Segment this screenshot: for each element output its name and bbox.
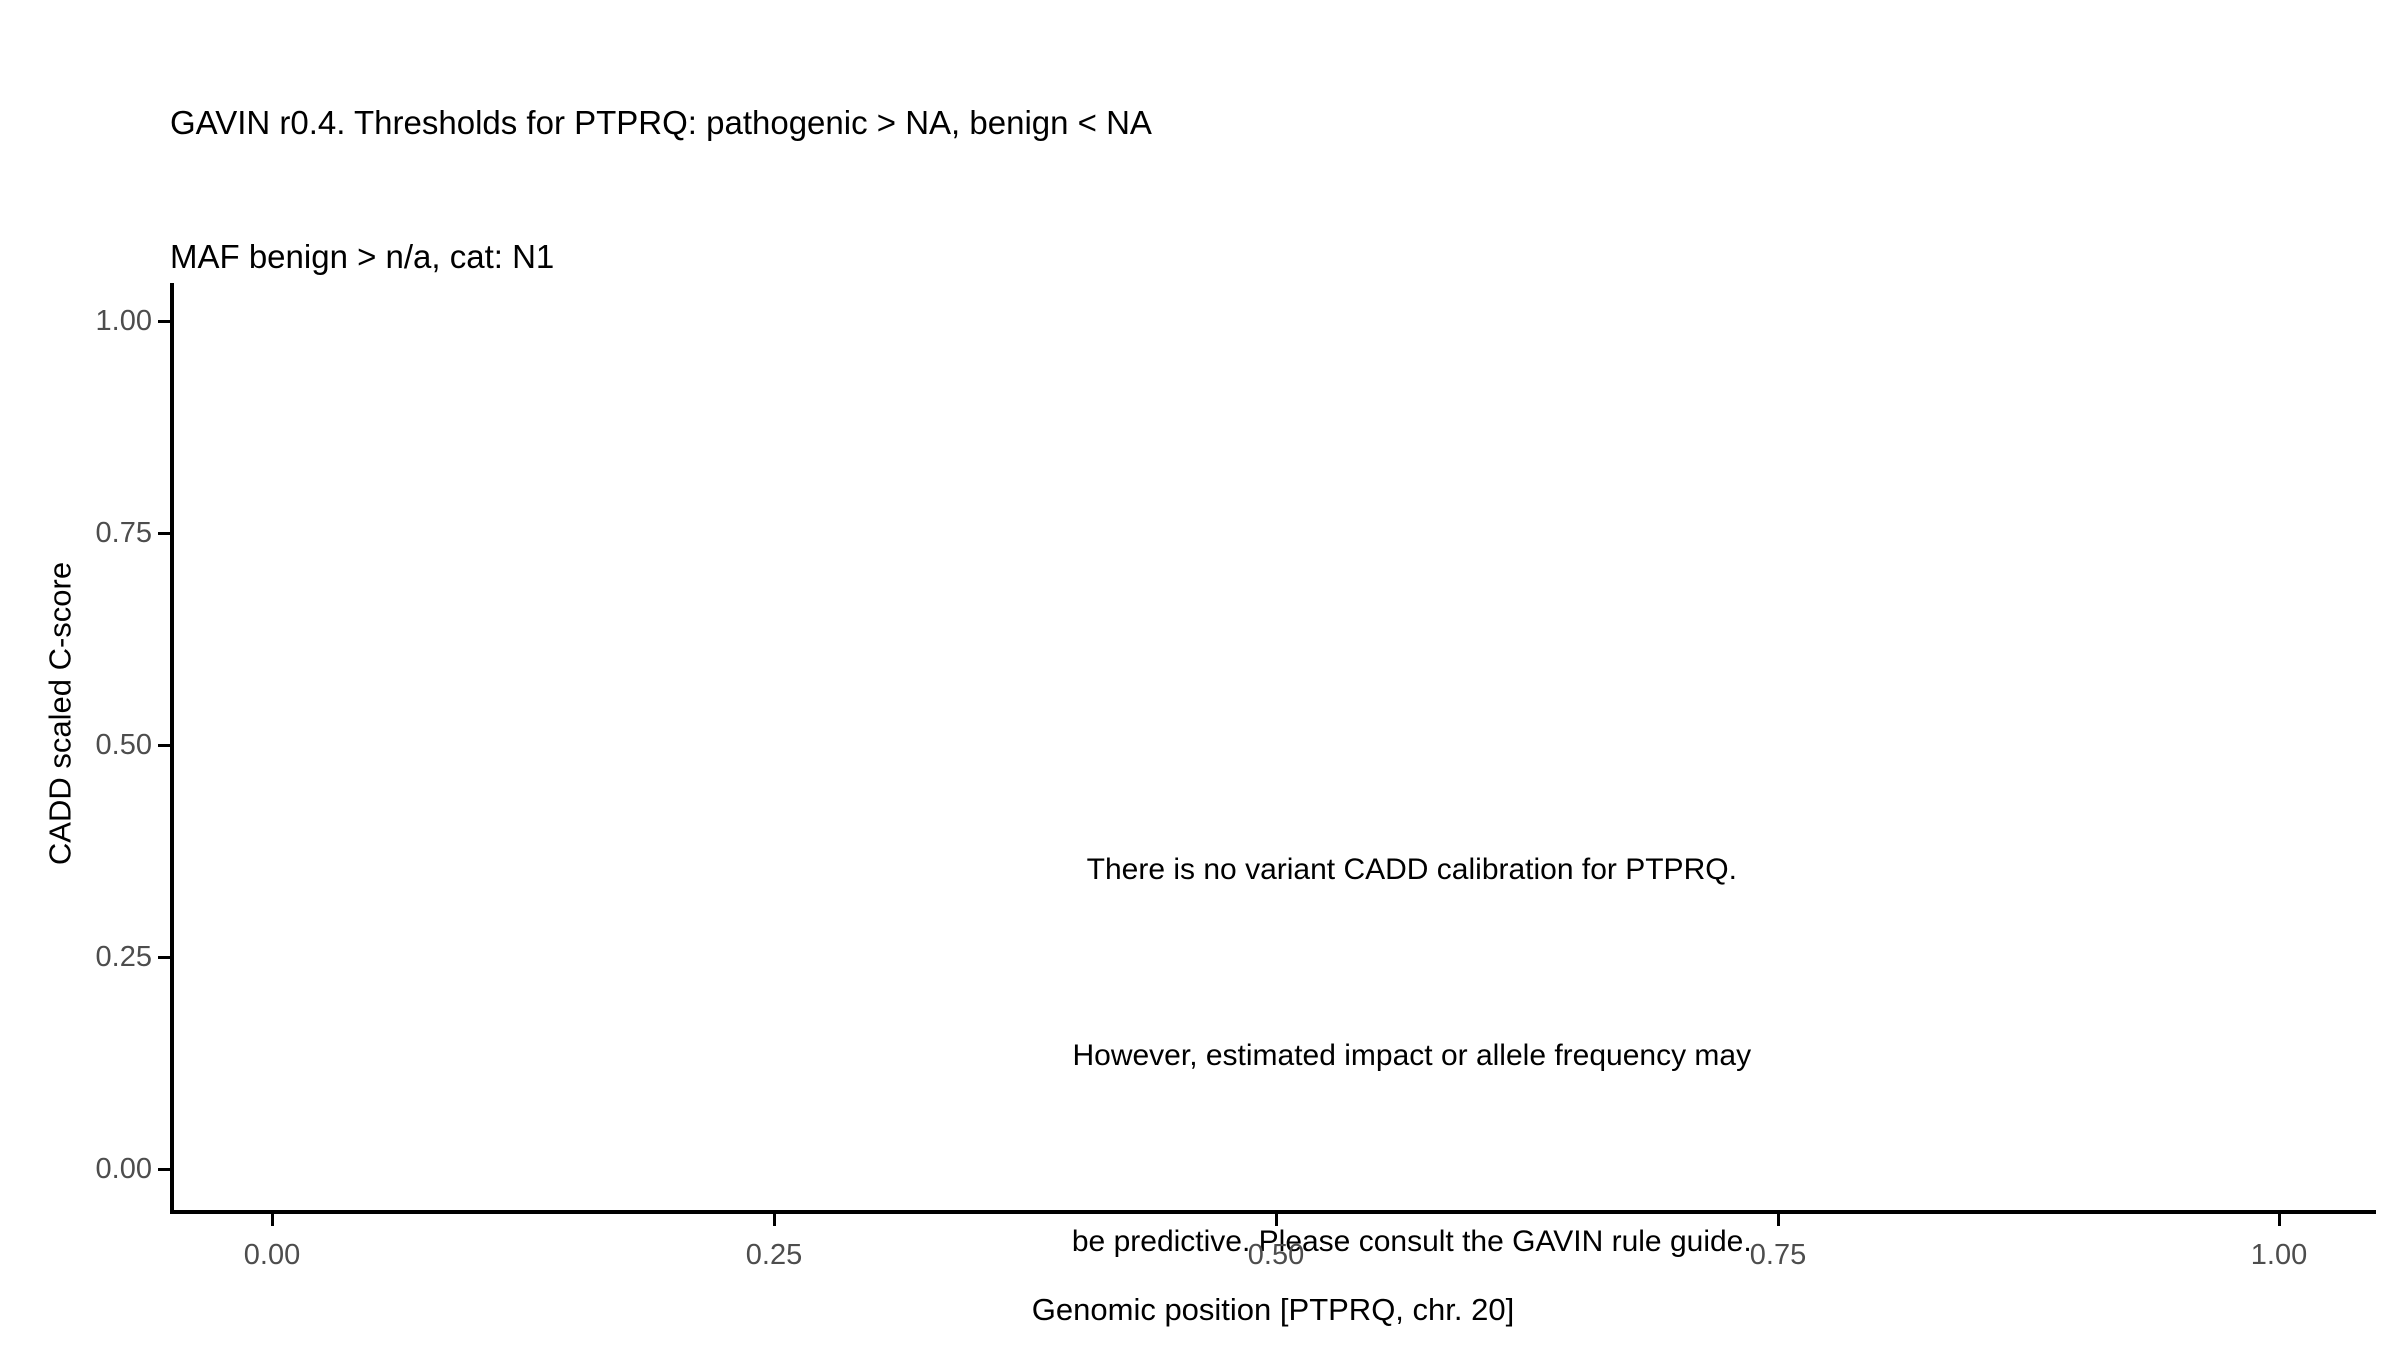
y-tick-mark-0.00 bbox=[158, 1168, 170, 1171]
y-tick-mark-0.50 bbox=[158, 744, 170, 747]
x-tick-label-0.25: 0.25 bbox=[694, 1239, 854, 1271]
plot-panel: There is no variant CADD calibration for… bbox=[170, 285, 2376, 1212]
x-tick-mark-1.00 bbox=[2278, 1214, 2281, 1226]
x-tick-mark-0.25 bbox=[773, 1214, 776, 1226]
y-axis-title: CADD scaled C-score bbox=[45, 249, 76, 1179]
x-tick-mark-0.50 bbox=[1275, 1214, 1278, 1226]
y-tick-mark-0.75 bbox=[158, 532, 170, 535]
y-tick-mark-1.00 bbox=[158, 320, 170, 323]
plot-title-line-2: MAF benign > n/a, cat: N1 bbox=[170, 235, 2270, 280]
y-axis-line bbox=[170, 283, 174, 1214]
x-axis-title: Genomic position [PTPRQ, chr. 20] bbox=[170, 1294, 2376, 1325]
plot-title-line-1: GAVIN r0.4. Thresholds for PTPRQ: pathog… bbox=[170, 101, 2270, 146]
x-tick-label-0.00: 0.00 bbox=[192, 1239, 352, 1271]
x-tick-mark-0.00 bbox=[271, 1214, 274, 1226]
panel-annotation-line-2: However, estimated impact or allele freq… bbox=[832, 1025, 1992, 1087]
x-axis-line bbox=[170, 1210, 2376, 1214]
plot-canvas: GAVIN r0.4. Thresholds for PTPRQ: pathog… bbox=[0, 0, 2400, 1350]
y-tick-mark-0.25 bbox=[158, 956, 170, 959]
x-tick-mark-0.75 bbox=[1777, 1214, 1780, 1226]
x-tick-label-0.50: 0.50 bbox=[1196, 1239, 1356, 1271]
x-tick-label-0.75: 0.75 bbox=[1698, 1239, 1858, 1271]
panel-annotation-line-1: There is no variant CADD calibration for… bbox=[832, 839, 1992, 901]
x-tick-label-1.00: 1.00 bbox=[2199, 1239, 2359, 1271]
